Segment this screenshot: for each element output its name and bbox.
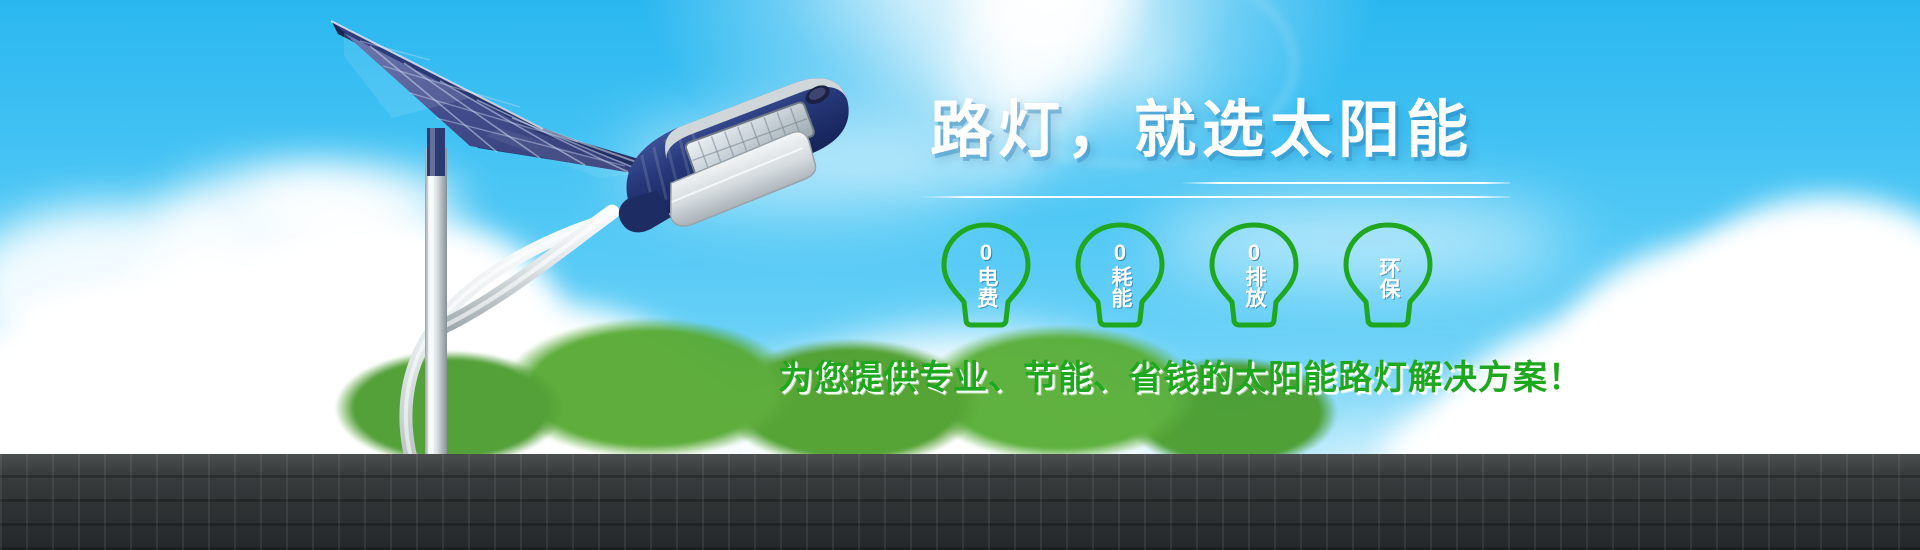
title-divider: [760, 178, 1480, 204]
page-title: 路灯，就选太阳能: [930, 100, 1480, 162]
badge-content: 0 电费: [975, 240, 997, 308]
divider-line-lower: [920, 196, 1510, 198]
divider-line-upper: [1180, 182, 1510, 184]
badge-zero-value: 0: [1248, 242, 1260, 266]
badge-label: 排放: [1243, 266, 1265, 308]
badge-eco-friendly: 环保: [1342, 220, 1434, 328]
cloud-wisp-high: [900, 30, 1200, 100]
badge-label: 环保: [1377, 257, 1399, 299]
badge-energy-consumption: 0 耗能: [1074, 220, 1166, 328]
badge-content: 环保: [1377, 249, 1399, 299]
badge-zero-value: 0: [1114, 242, 1126, 266]
badge-content: 0 排放: [1243, 240, 1265, 308]
badge-label: 电费: [975, 266, 997, 308]
solar-street-lamp-hero-banner: 路灯，就选太阳能 0 电费 0 耗能: [0, 0, 1920, 550]
badge-label: 耗能: [1109, 266, 1131, 308]
wall-tile-texture: [0, 454, 1920, 550]
badge-emissions: 0 排放: [1208, 220, 1300, 328]
badge-zero-value: 0: [980, 242, 992, 266]
badge-electricity-cost: 0 电费: [940, 220, 1032, 328]
banner-copy: 路灯，就选太阳能 0 电费 0 耗能: [760, 100, 1480, 399]
tiled-wall: [0, 454, 1920, 550]
page-subtitle: 为您提供专业、节能、省钱的太阳能路灯解决方案！: [778, 350, 1480, 399]
feature-badge-list: 0 电费 0 耗能 0 排放: [940, 220, 1480, 328]
badge-content: 0 耗能: [1109, 240, 1131, 308]
